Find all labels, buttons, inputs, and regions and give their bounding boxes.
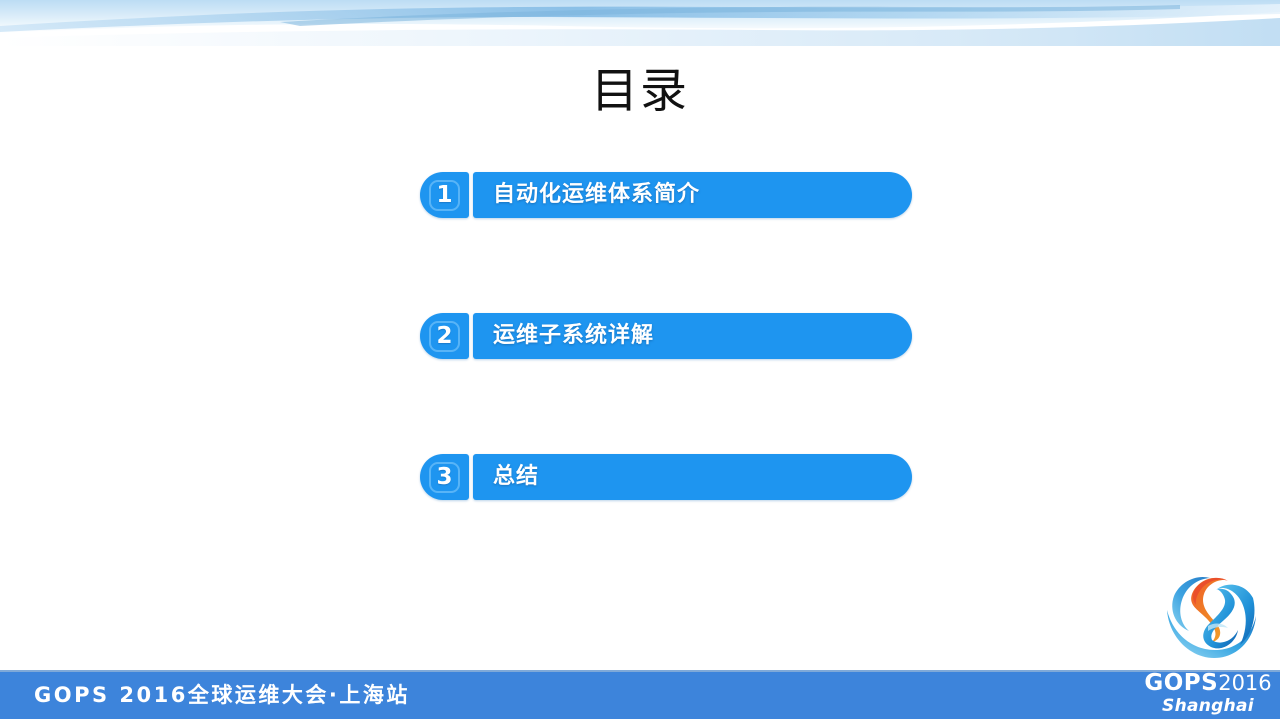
agenda-number-block: 2 [420,313,469,359]
logo-city-label: Shanghai [1144,698,1272,715]
agenda-item-label: 自动化运维体系简介 [473,184,700,206]
agenda-number-label: 2 [436,325,452,348]
footer-conference-text: GOPS 2016全球运维大会·上海站 [34,683,410,708]
agenda-list: 1 自动化运维体系简介 2 运维子系统详解 3 [420,172,912,500]
agenda-number-label: 1 [436,184,452,207]
agenda-number-badge: 1 [429,180,460,211]
agenda-number-label: 3 [436,466,452,489]
gops-swirl-logo-icon [1161,564,1261,664]
conference-logo: GOPS2016 Shanghai [1144,564,1272,719]
agenda-number-block: 3 [420,454,469,500]
logo-year-label: 2016 [1218,671,1271,695]
agenda-item-label: 运维子系统详解 [473,325,654,347]
presentation-slide: 目录 1 自动化运维体系简介 2 运维子系统详解 [0,0,1280,719]
page-title: 目录 [0,61,1280,123]
list-item[interactable]: 2 运维子系统详解 [420,313,912,359]
agenda-number-badge: 2 [429,321,460,352]
logo-wordmark: GOPS2016 Shanghai [1144,672,1272,715]
agenda-bar[interactable]: 运维子系统详解 [473,313,912,359]
footer-bar: GOPS 2016全球运维大会·上海站 [0,670,1280,719]
blue-wave-banner-icon [0,0,1280,46]
agenda-number-badge: 3 [429,462,460,493]
agenda-bar[interactable]: 自动化运维体系简介 [473,172,912,218]
list-item[interactable]: 1 自动化运维体系简介 [420,172,912,218]
list-item[interactable]: 3 总结 [420,454,912,500]
agenda-item-label: 总结 [473,466,539,488]
agenda-bar[interactable]: 总结 [473,454,912,500]
logo-brand-label: GOPS [1144,670,1218,696]
agenda-number-block: 1 [420,172,469,218]
